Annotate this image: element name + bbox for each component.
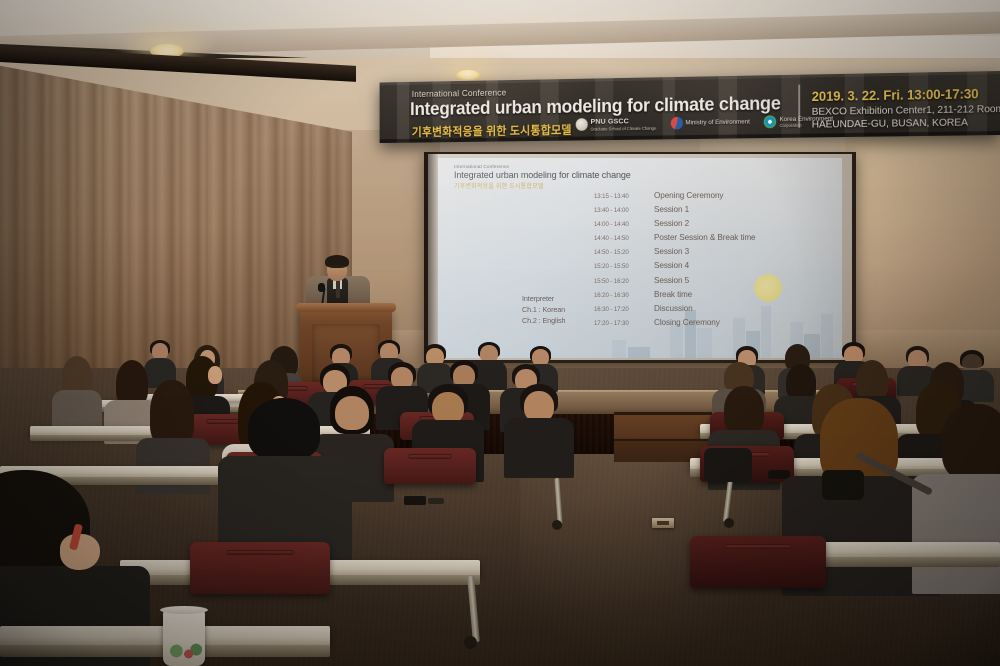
podium-top xyxy=(296,303,396,312)
schedule-time: 14:50 - 15:20 xyxy=(594,249,654,256)
bag-on-floor xyxy=(704,448,752,482)
schedule-time: 16:30 - 17:20 xyxy=(594,306,654,313)
logo-moe-label: Ministry of Environment xyxy=(685,119,749,127)
schedule-item: Closing Ceremony xyxy=(654,318,720,327)
cup-rim xyxy=(160,606,208,614)
slide-header: International Conference Integrated urba… xyxy=(454,164,631,190)
schedule-row: 14:40 - 14:50Poster Session & Break time xyxy=(594,233,834,247)
schedule-time: 14:00 - 14:40 xyxy=(594,221,654,228)
device-on-table xyxy=(404,496,426,505)
conference-banner: International Conference Integrated urba… xyxy=(380,71,1000,143)
logo-pnu-abbr: PNU GSCC xyxy=(591,117,629,126)
schedule-item: Break time xyxy=(654,290,692,299)
schedule-time: 16:20 - 16:30 xyxy=(594,292,654,299)
schedule-row: 13:40 - 14:00Session 1 xyxy=(594,205,834,219)
table-caster xyxy=(552,520,562,530)
downlight-icon-2 xyxy=(455,70,481,81)
projection-screen: International Conference Integrated urba… xyxy=(428,154,852,360)
ministry-of-environment-logo-icon xyxy=(670,117,682,130)
glasses-icon xyxy=(328,266,346,270)
schedule-row: 14:00 - 14:40Session 2 xyxy=(594,219,834,233)
slide-eyebrow: International Conference xyxy=(454,164,631,169)
slide-building xyxy=(652,338,668,358)
schedule-item: Session 5 xyxy=(654,276,689,285)
schedule-item: Session 4 xyxy=(654,261,689,270)
schedule-item: Poster Session & Break time xyxy=(654,233,756,242)
slide-building xyxy=(612,340,626,358)
schedule-row: 13:15 - 13:40Opening Ceremony xyxy=(594,191,834,205)
schedule-item: Session 2 xyxy=(654,219,689,228)
banner-venue-line2: HAEUNDAE-GU, BUSAN, KOREA xyxy=(812,116,968,130)
schedule-time: 15:20 - 15:50 xyxy=(594,263,654,270)
logo-ministry-environment: Ministry of Environment xyxy=(670,116,749,130)
floor-outlet-plate xyxy=(652,518,674,528)
slide-building xyxy=(697,328,712,358)
slide-schedule-list: 13:15 - 13:40Opening Ceremony 13:40 - 14… xyxy=(594,191,834,332)
interpreter-label: Interpreter xyxy=(522,294,565,305)
schedule-item: Session 3 xyxy=(654,247,689,256)
schedule-row: 17:20 - 17:30Closing Ceremony xyxy=(594,318,834,332)
logo-pnu-sub: Graduate School of Climate Change xyxy=(591,126,657,132)
slide-building xyxy=(628,347,650,358)
slide-title: Integrated urban modeling for climate ch… xyxy=(454,170,631,180)
schedule-item: Session 1 xyxy=(654,205,689,214)
screen-left-shadow xyxy=(424,152,438,363)
schedule-item: Discussion xyxy=(654,304,693,313)
conference-photo-scene: International Conference Integrated urba… xyxy=(0,0,1000,666)
banner-title-korean: 기후변화적응을 위한 도시통합모델 xyxy=(412,121,572,139)
chair xyxy=(190,542,330,594)
table-caster xyxy=(724,518,734,528)
schedule-time: 15:50 - 16:20 xyxy=(594,278,654,285)
banner-eyebrow: International Conference xyxy=(412,88,507,99)
hand xyxy=(60,534,100,570)
schedule-row: 15:20 - 15:50Session 4 xyxy=(594,261,834,275)
schedule-item: Opening Ceremony xyxy=(654,191,723,200)
schedule-row: 15:50 - 16:20Session 5 xyxy=(594,276,834,290)
speaker-tie xyxy=(336,280,340,298)
paper-cup xyxy=(163,610,205,666)
banner-divider xyxy=(798,85,800,128)
chair xyxy=(384,448,476,484)
microphone-icon xyxy=(318,283,325,292)
slide-building xyxy=(590,344,610,358)
schedule-row: 16:30 - 17:20Discussion xyxy=(594,304,834,318)
banner-date: 2019. 3. 22. Fri. 13:00-17:30 xyxy=(812,86,979,104)
slide-title-korean: 기후변화적응을 위한 도시통합모델 xyxy=(454,181,631,190)
schedule-time: 13:40 - 14:00 xyxy=(594,207,654,214)
slide-building xyxy=(714,336,732,358)
table-caster xyxy=(464,636,477,649)
schedule-row: 14:50 - 15:20Session 3 xyxy=(594,247,834,261)
presentation-slide: International Conference Integrated urba… xyxy=(438,158,842,358)
interpreter-channel-1: Ch.1 : Korean xyxy=(522,305,565,316)
bag-on-floor xyxy=(822,470,864,500)
device-on-table xyxy=(428,498,444,504)
pnu-logo-icon xyxy=(576,119,588,132)
cup-pattern xyxy=(165,640,203,660)
schedule-time: 17:20 - 17:30 xyxy=(594,320,654,327)
chair xyxy=(690,536,826,588)
schedule-time: 13:15 - 13:40 xyxy=(594,193,654,200)
korea-environment-corporation-logo-icon xyxy=(764,116,776,129)
interpreter-channel-2: Ch.2 : English xyxy=(522,316,565,327)
slide-interpreter-block: Interpreter Ch.1 : Korean Ch.2 : English xyxy=(522,294,565,327)
logo-pnu-gscc: PNU GSCC Graduate School of Climate Chan… xyxy=(576,117,657,131)
schedule-time: 14:40 - 14:50 xyxy=(594,235,654,242)
logo-pnu-label: PNU GSCC Graduate School of Climate Chan… xyxy=(591,117,657,131)
schedule-row: 16:20 - 16:30Break time xyxy=(594,290,834,304)
